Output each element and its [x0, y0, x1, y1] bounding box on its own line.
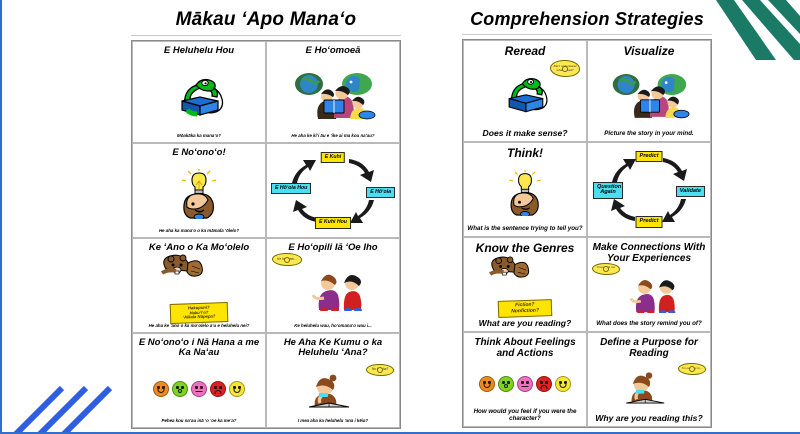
card-caption: Why are you reading this?: [591, 414, 707, 423]
thought-bubble: I'm reading to...: [678, 363, 706, 375]
lightbulb-head-icon: [136, 158, 262, 229]
card-heading: Reread: [505, 45, 546, 58]
card-caption: Does it make sense?: [467, 129, 583, 138]
emotion-face-5: [555, 376, 571, 392]
card-caption: He aha ke ʻano o ka moʻolelo aʻu e heluh…: [136, 324, 262, 329]
cycle-node-top[interactable]: Predict: [636, 151, 663, 163]
two-children-talking-icon: It reminds me of...: [591, 264, 707, 321]
beaver-with-sign-icon: Hakupuni? Hakuʻiʻo? ʻAikala Nūpepa?: [136, 253, 262, 324]
card-predict-cycle-hawaiian[interactable]: E Kuhi E Hōʻoia E Kuhi Hou E Hōʻoia Hou: [266, 143, 400, 238]
card-heading: Ke ʻAno o Ka Moʻolelo: [149, 243, 249, 253]
panel-hawaiian: Mākau ʻApo Manaʻo E Heluhelu Hou: [131, 0, 401, 429]
slide-canvas: Mākau ʻApo Manaʻo E Heluhelu Hou: [0, 0, 800, 434]
emotion-face-5: [229, 381, 245, 397]
emotion-face-2: [172, 381, 188, 397]
card-think-english[interactable]: Think!: [463, 142, 587, 237]
card-caption: What does the story remind you of?: [591, 321, 707, 328]
children-imagining-icon: [591, 58, 707, 131]
genre-sign: Hakupuni? Hakuʻiʻo? ʻAikala Nūpepa?: [170, 302, 229, 324]
panel-english: Comprehension Strategies Reread: [462, 0, 712, 428]
emotion-face-3: [191, 381, 207, 397]
card-heading: E Noʻonoʻo!: [172, 148, 225, 158]
strategy-card-grid-english: Reread Did I understand what I read?: [462, 39, 712, 428]
title-divider: [462, 34, 712, 35]
cycle-node-left[interactable]: E Hōʻoia Hou: [271, 183, 311, 194]
emotion-face-1: [153, 381, 169, 397]
title-divider: [131, 35, 401, 36]
panel-title-hawaiian: Mākau ʻApo Manaʻo: [131, 0, 401, 31]
speech-bubble: Ke heluhelu...: [272, 253, 302, 266]
emotion-faces-icon: [467, 359, 583, 409]
card-connections-english[interactable]: Make Connections With Your Experiences I…: [587, 237, 711, 332]
card-reread-hawaiian[interactable]: E Heluhelu Hou Mōakāka: [132, 41, 266, 143]
lightbulb-head-icon: [467, 160, 583, 226]
card-heading: Define a Purpose for Reading: [591, 337, 707, 359]
card-feelings-english[interactable]: Think About Feelings and Actions How wou…: [463, 332, 587, 427]
emotion-faces-icon: [136, 359, 262, 419]
girl-reading-thinking-icon: I'm reading to...: [591, 359, 707, 414]
card-visualize-english[interactable]: Visualize: [587, 40, 711, 142]
card-heading: Make Connections With Your Experiences: [591, 242, 707, 264]
gecko-reading-icon: Did I understand what I read?: [467, 58, 583, 128]
card-caption: What are you reading?: [467, 319, 583, 328]
card-caption: He aha ka manaʻo o ka māmala ʻōlelo?: [136, 229, 262, 234]
card-heading: He Aha Ke Kumu o ka Heluhelu ʻAna?: [270, 338, 396, 359]
card-caption: Picture the story in your mind.: [591, 131, 707, 138]
card-caption: What is the sentence trying to tell you?: [467, 226, 583, 233]
card-heading: E Hoʻopili Iā ʻOe Iho: [288, 243, 377, 253]
card-predict-cycle-english[interactable]: Predict Validate Predict Question Again: [587, 142, 711, 237]
emotion-face-1: [479, 376, 495, 392]
cycle-node-bottom[interactable]: Predict: [636, 216, 663, 228]
left-edge-rule: [0, 0, 2, 434]
cycle-node-right[interactable]: Validate: [676, 186, 705, 198]
predict-validate-cycle-diagram: E Kuhi E Hōʻoia E Kuhi Hou E Hōʻoia Hou: [271, 150, 395, 232]
card-heading: Know the Genres: [476, 242, 575, 255]
card-genres-hawaiian[interactable]: Ke ʻAno o Ka Moʻolelo Hakupun: [132, 238, 266, 333]
card-reread-english[interactable]: Reread Did I understand what I read?: [463, 40, 587, 142]
girl-reading-thinking-icon: No ke aha?: [270, 359, 396, 419]
card-caption: Mōakāka ka manaʻo?: [136, 134, 262, 139]
emotion-face-2: [498, 376, 514, 392]
two-children-talking-icon: Ke heluhelu...: [270, 253, 396, 324]
card-heading: Visualize: [624, 45, 675, 58]
children-imagining-icon: [270, 56, 396, 134]
genre-sign: Fiction? Nonfiction?: [498, 299, 553, 318]
card-caption: He aha ke kiʻi āu e ʻike ai ma kou naʻau…: [270, 134, 396, 139]
card-caption: Ke heluhelu wau, hoʻomanaʻo wau i...: [270, 324, 396, 329]
card-heading: E Hoʻomoeā: [306, 46, 361, 56]
speech-bubble: It reminds me of...: [592, 263, 620, 275]
card-think-hawaiian[interactable]: E Noʻonoʻo!: [132, 143, 266, 238]
gecko-reading-icon: [136, 56, 262, 134]
predict-validate-cycle-diagram: Predict Validate Predict Question Again: [593, 149, 705, 231]
card-heading: E Heluhelu Hou: [164, 46, 234, 56]
thought-bubble: Did I understand what I read?: [550, 60, 580, 77]
card-heading: Think!: [507, 147, 543, 160]
card-heading: Think About Feelings and Actions: [467, 337, 583, 359]
cycle-node-top[interactable]: E Kuhi: [321, 152, 345, 163]
sign-line-2: Nonfiction?: [503, 308, 547, 315]
sign-line-3: ʻAikala Nūpepa?: [175, 315, 223, 321]
cycle-node-bottom[interactable]: E Kuhi Hou: [315, 217, 351, 228]
card-purpose-hawaiian[interactable]: He Aha Ke Kumu o ka Heluhelu ʻAna? No ke…: [266, 333, 400, 428]
thought-bubble: No ke aha?: [366, 364, 394, 376]
strategy-card-grid-hawaiian: E Heluhelu Hou Mōakāka: [131, 40, 401, 429]
card-caption: How would you feel if you were the chara…: [467, 409, 583, 423]
card-caption: Pehea kou naʻau inā ʻo ʻoe ka meʻa?: [136, 419, 262, 424]
panel-title-english: Comprehension Strategies: [462, 0, 712, 30]
beaver-with-sign-icon: Fiction? Nonfiction?: [467, 255, 583, 318]
card-heading: E Noʻonoʻo i Nā Hana a me Ka Naʻau: [136, 338, 262, 359]
cycle-node-right[interactable]: E Hōʻoia: [366, 187, 395, 198]
card-genres-english[interactable]: Know the Genres Fiction?: [463, 237, 587, 332]
emotion-face-3: [517, 376, 533, 392]
card-caption: I mea aha ka heluhelu ʻana i kēia?: [270, 419, 396, 424]
cycle-node-left[interactable]: Question Again: [593, 182, 623, 200]
bottom-left-stripes-decoration: [0, 378, 120, 434]
emotion-face-4: [210, 381, 226, 397]
emotion-face-4: [536, 376, 552, 392]
card-visualize-hawaiian[interactable]: E Hoʻomoeā: [266, 41, 400, 143]
card-feelings-hawaiian[interactable]: E Noʻonoʻo i Nā Hana a me Ka Naʻau Pehea…: [132, 333, 266, 428]
card-purpose-english[interactable]: Define a Purpose for Reading I'm reading…: [587, 332, 711, 427]
card-connections-hawaiian[interactable]: E Hoʻopili Iā ʻOe Iho Ke heluhelu...: [266, 238, 400, 333]
